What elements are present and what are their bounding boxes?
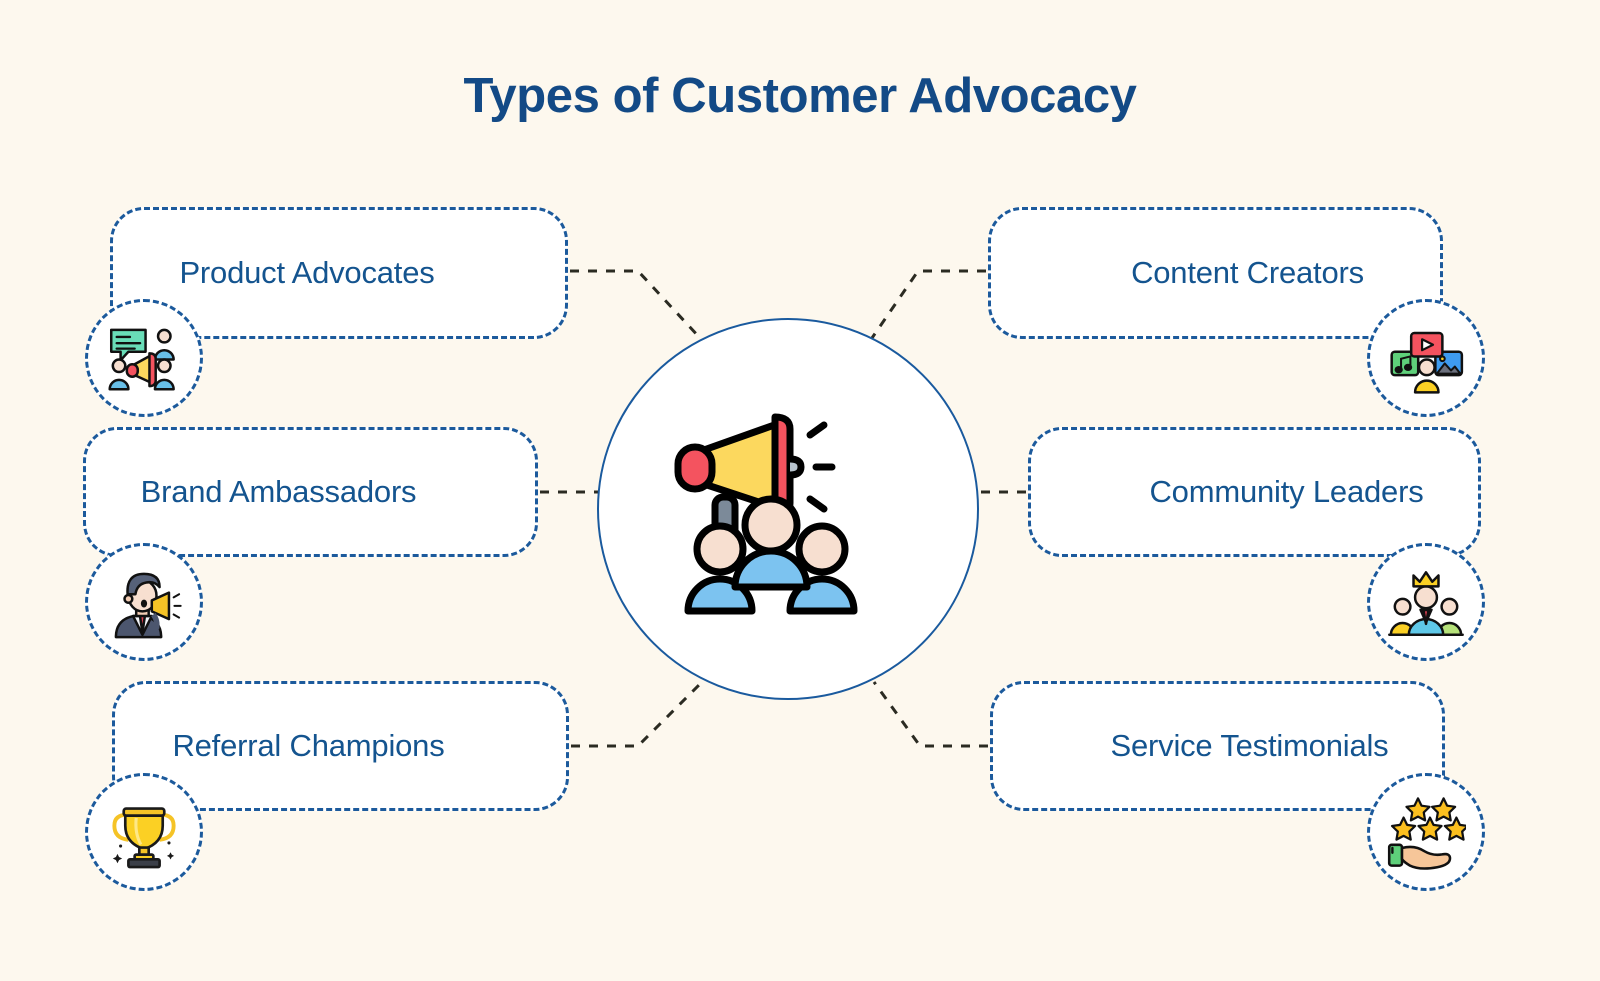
hand-five-stars-icon [1386,792,1466,872]
crowned-leader-team-icon [1387,563,1465,641]
badge-community-leaders [1367,543,1485,661]
card-label-community-leaders: Community Leaders [1031,474,1478,510]
card-label-product-advocates: Product Advocates [113,255,565,291]
connector-product-advocates [570,271,700,338]
card-brand-ambassadors[interactable]: Brand Ambassadors [83,427,538,557]
connector-service-testimonials [874,682,988,746]
card-community-leaders[interactable]: Community Leaders [1028,427,1481,557]
page-title: Types of Customer Advocacy [0,68,1600,124]
card-label-content-creators: Content Creators [991,255,1440,291]
badge-content-creators [1367,299,1485,417]
badge-product-advocates [85,299,203,417]
card-content-creators[interactable]: Content Creators [988,207,1443,339]
center-hub [597,318,979,700]
megaphone-audience-icon [668,399,908,619]
card-label-brand-ambassadors: Brand Ambassadors [86,474,535,510]
card-service-testimonials[interactable]: Service Testimonials [990,681,1445,811]
card-label-service-testimonials: Service Testimonials [993,728,1442,764]
connector-content-creators [872,271,986,338]
man-with-megaphone-icon [105,563,183,641]
card-label-referral-champions: Referral Champions [115,728,566,764]
badge-service-testimonials [1367,773,1485,891]
badge-referral-champions [85,773,203,891]
media-cards-creator-icon [1387,319,1465,397]
connector-referral-champions [571,682,702,746]
badge-brand-ambassadors [85,543,203,661]
trophy-icon [105,793,183,871]
infographic-canvas: Types of Customer Advocacy [0,0,1600,981]
speech-bubble-people-megaphone-icon [105,319,183,397]
